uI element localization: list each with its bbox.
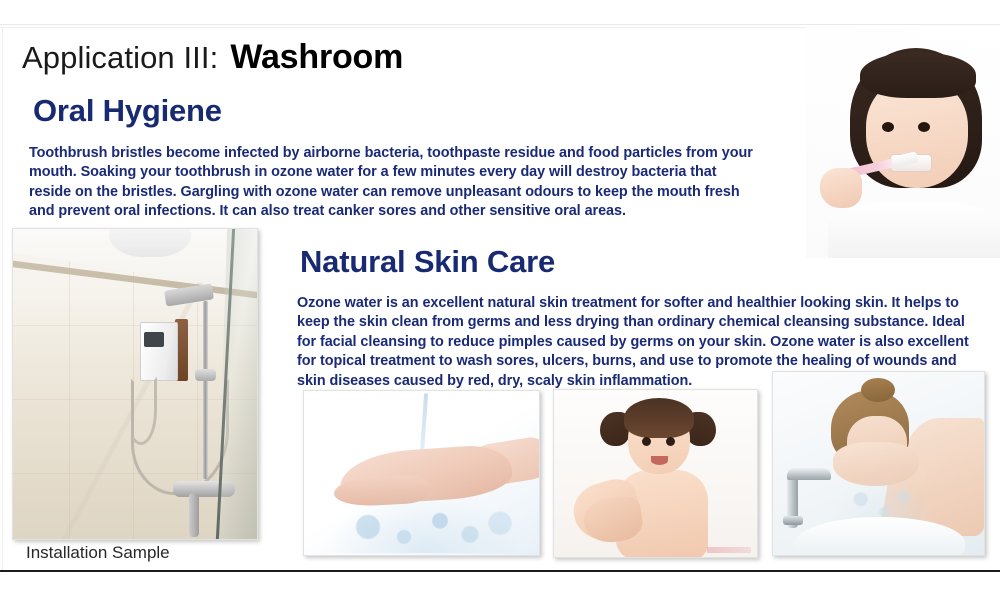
section-heading-natural-skin-care: Natural Skin Care xyxy=(300,244,555,280)
left-eye-shape xyxy=(882,122,894,132)
water-splash xyxy=(324,491,524,553)
shower-hose-loop xyxy=(125,377,157,445)
shirt-shape xyxy=(828,202,1000,258)
photo-watermark xyxy=(707,547,751,553)
caption-installation-sample: Installation Sample xyxy=(26,543,170,563)
top-divider-rule xyxy=(0,24,1000,25)
fringe-shape xyxy=(860,52,976,98)
mouth-shape xyxy=(651,456,668,465)
bottom-divider-rule xyxy=(0,570,1000,572)
slide-title: Application III: Washroom xyxy=(22,38,403,77)
bath-spout xyxy=(189,493,199,537)
right-eye-shape xyxy=(666,437,675,446)
toddler-clapping-hands-photo xyxy=(553,389,758,558)
hair-shape xyxy=(624,398,694,438)
slide-canvas: Application III: Washroom Oral Hygiene T… xyxy=(0,0,1000,603)
girl-brushing-teeth-photo xyxy=(806,26,1000,258)
section-body-oral-hygiene: Toothbrush bristles become infected by a… xyxy=(29,144,759,221)
shower-installation-photo xyxy=(12,228,258,540)
right-eye-shape xyxy=(918,122,930,132)
hand-shape xyxy=(820,168,862,208)
woman-washing-face-photo xyxy=(772,371,985,556)
ozone-water-heater-unit xyxy=(140,322,178,381)
slide-title-main: Washroom xyxy=(230,38,403,77)
left-border-rule xyxy=(2,27,3,572)
hand-washing-under-water-photo xyxy=(303,390,540,556)
section-heading-oral-hygiene: Oral Hygiene xyxy=(33,93,222,129)
faucet-handle xyxy=(783,516,803,525)
heater-display-panel xyxy=(144,332,164,347)
hair-bun-shape xyxy=(861,378,895,402)
faucet-spout xyxy=(787,468,831,480)
slide-title-prefix: Application III: xyxy=(22,40,218,76)
left-eye-shape xyxy=(642,437,651,446)
